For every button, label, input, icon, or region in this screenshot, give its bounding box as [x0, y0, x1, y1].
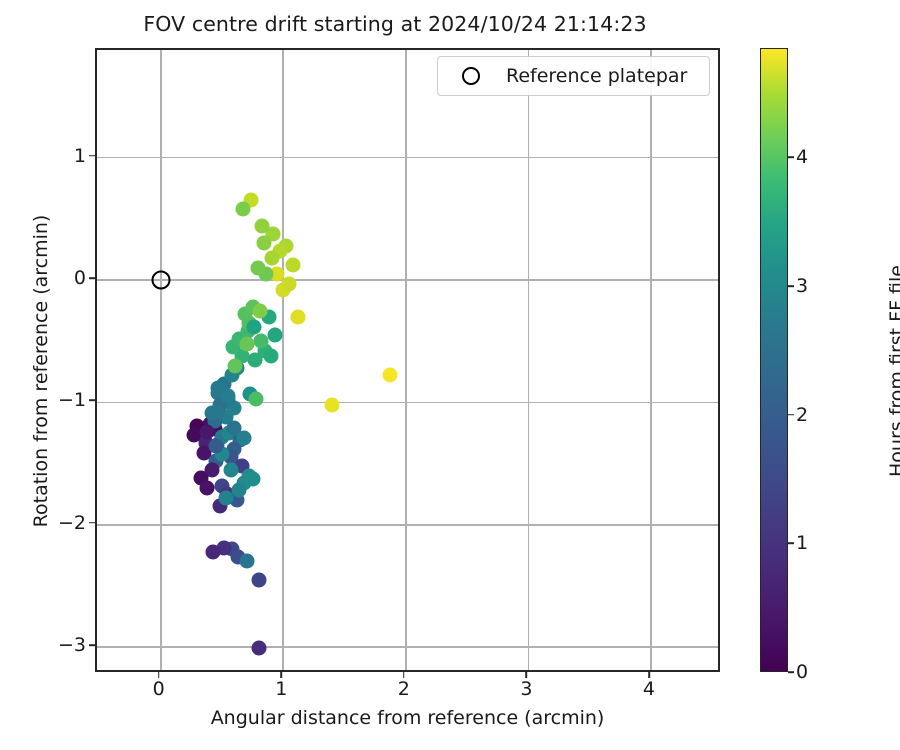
scatter-point — [246, 319, 261, 334]
scatter-point — [235, 202, 250, 217]
x-tick-label: 0 — [153, 678, 165, 700]
y-tick-mark — [89, 155, 95, 157]
scatter-point — [264, 348, 279, 363]
scatter-point — [286, 258, 301, 273]
legend-item-label: Reference platepar — [506, 65, 687, 87]
scatter-point — [239, 336, 254, 351]
gridline-vertical — [405, 50, 407, 670]
colorbar-label: Hours from first FF file — [886, 59, 900, 683]
scatter-point — [251, 641, 266, 656]
scatter-point — [200, 481, 215, 496]
scatter-point — [256, 236, 271, 251]
colorbar-tick-label: 1 — [796, 532, 808, 554]
scatter-point — [282, 276, 297, 291]
colorbar-tick-label: 3 — [796, 275, 808, 297]
y-axis-label: Rotation from reference (arcmin) — [30, 59, 52, 683]
scatter-point — [200, 424, 215, 439]
scatter-point — [250, 260, 265, 275]
colorbar — [760, 48, 788, 672]
page-title: FOV centre drift starting at 2024/10/24 … — [0, 12, 790, 36]
plot-area — [95, 48, 720, 672]
y-tick-label: 1 — [74, 145, 86, 167]
scatter-point — [382, 368, 397, 383]
scatter-point — [290, 309, 305, 324]
y-tick-mark — [89, 400, 95, 402]
gridline-horizontal — [97, 279, 718, 281]
gridline-horizontal — [97, 157, 718, 159]
scatter-point — [237, 430, 252, 445]
y-tick-label: 0 — [74, 267, 86, 289]
y-tick-label: −3 — [58, 634, 86, 656]
colorbar-tick-mark — [788, 671, 794, 673]
x-tick-label: 1 — [275, 678, 287, 700]
colorbar-tick-mark — [788, 285, 794, 287]
scatter-point — [252, 303, 267, 318]
scatter-point — [245, 472, 260, 487]
figure-canvas: FOV centre drift starting at 2024/10/24 … — [0, 0, 900, 750]
y-tick-label: −2 — [58, 512, 86, 534]
scatter-point — [210, 405, 225, 420]
colorbar-tick-mark — [788, 414, 794, 416]
scatter-point — [228, 358, 243, 373]
scatter-point — [325, 397, 340, 412]
scatter-point — [248, 352, 263, 367]
y-tick-mark — [89, 277, 95, 279]
y-tick-mark — [89, 522, 95, 524]
colorbar-tick-label: 2 — [796, 404, 808, 426]
scatter-point — [239, 554, 254, 569]
scatter-point — [221, 389, 236, 404]
colorbar-tick-mark — [788, 157, 794, 159]
reference-platepar-icon — [462, 67, 480, 85]
scatter-point — [251, 572, 266, 587]
legend: Reference platepar — [437, 56, 710, 96]
x-axis-label: Angular distance from reference (arcmin) — [95, 707, 720, 729]
gridline-horizontal — [97, 524, 718, 526]
gridline-horizontal — [97, 646, 718, 648]
scatter-point — [232, 483, 247, 498]
y-tick-label: −1 — [58, 389, 86, 411]
scatter-point — [223, 462, 238, 477]
scatter-point — [206, 544, 221, 559]
gridline-horizontal — [97, 402, 718, 404]
colorbar-tick-label: 0 — [796, 661, 808, 683]
x-tick-label: 2 — [398, 678, 410, 700]
scatter-point — [208, 439, 223, 454]
scatter-point — [265, 251, 280, 266]
x-tick-label: 3 — [520, 678, 532, 700]
reference-platepar-marker — [151, 271, 170, 290]
scatter-point — [267, 328, 282, 343]
scatter-point — [218, 490, 233, 505]
scatter-point — [255, 219, 270, 234]
x-tick-label: 4 — [643, 678, 655, 700]
gridline-vertical — [650, 50, 652, 670]
gridline-vertical — [282, 50, 284, 670]
y-tick-mark — [89, 644, 95, 646]
gridline-vertical — [528, 50, 530, 670]
gridline-vertical — [160, 50, 162, 670]
scatter-point — [249, 391, 264, 406]
colorbar-tick-mark — [788, 543, 794, 545]
colorbar-tick-label: 4 — [796, 146, 808, 168]
